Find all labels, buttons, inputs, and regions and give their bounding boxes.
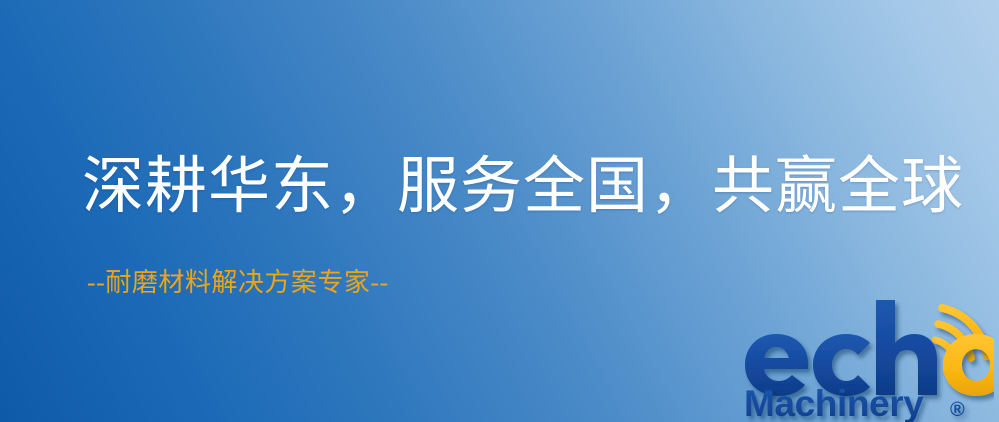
svg-text:Machinery: Machinery — [744, 383, 924, 422]
echo-machinery-logo[interactable]: Machinery ® echo Machinery ® — [742, 296, 994, 422]
hero-banner: 深耕华东，服务全国，共赢全球 --耐磨材料解决方案专家-- — [0, 0, 999, 422]
logo-letter-o — [943, 334, 994, 396]
banner-subtitle: --耐磨材料解决方案专家-- — [87, 267, 389, 299]
svg-text:®: ® — [950, 399, 965, 421]
logo-letter-h — [876, 300, 937, 395]
banner-headline: 深耕华东，服务全国，共赢全球 — [82, 150, 962, 224]
